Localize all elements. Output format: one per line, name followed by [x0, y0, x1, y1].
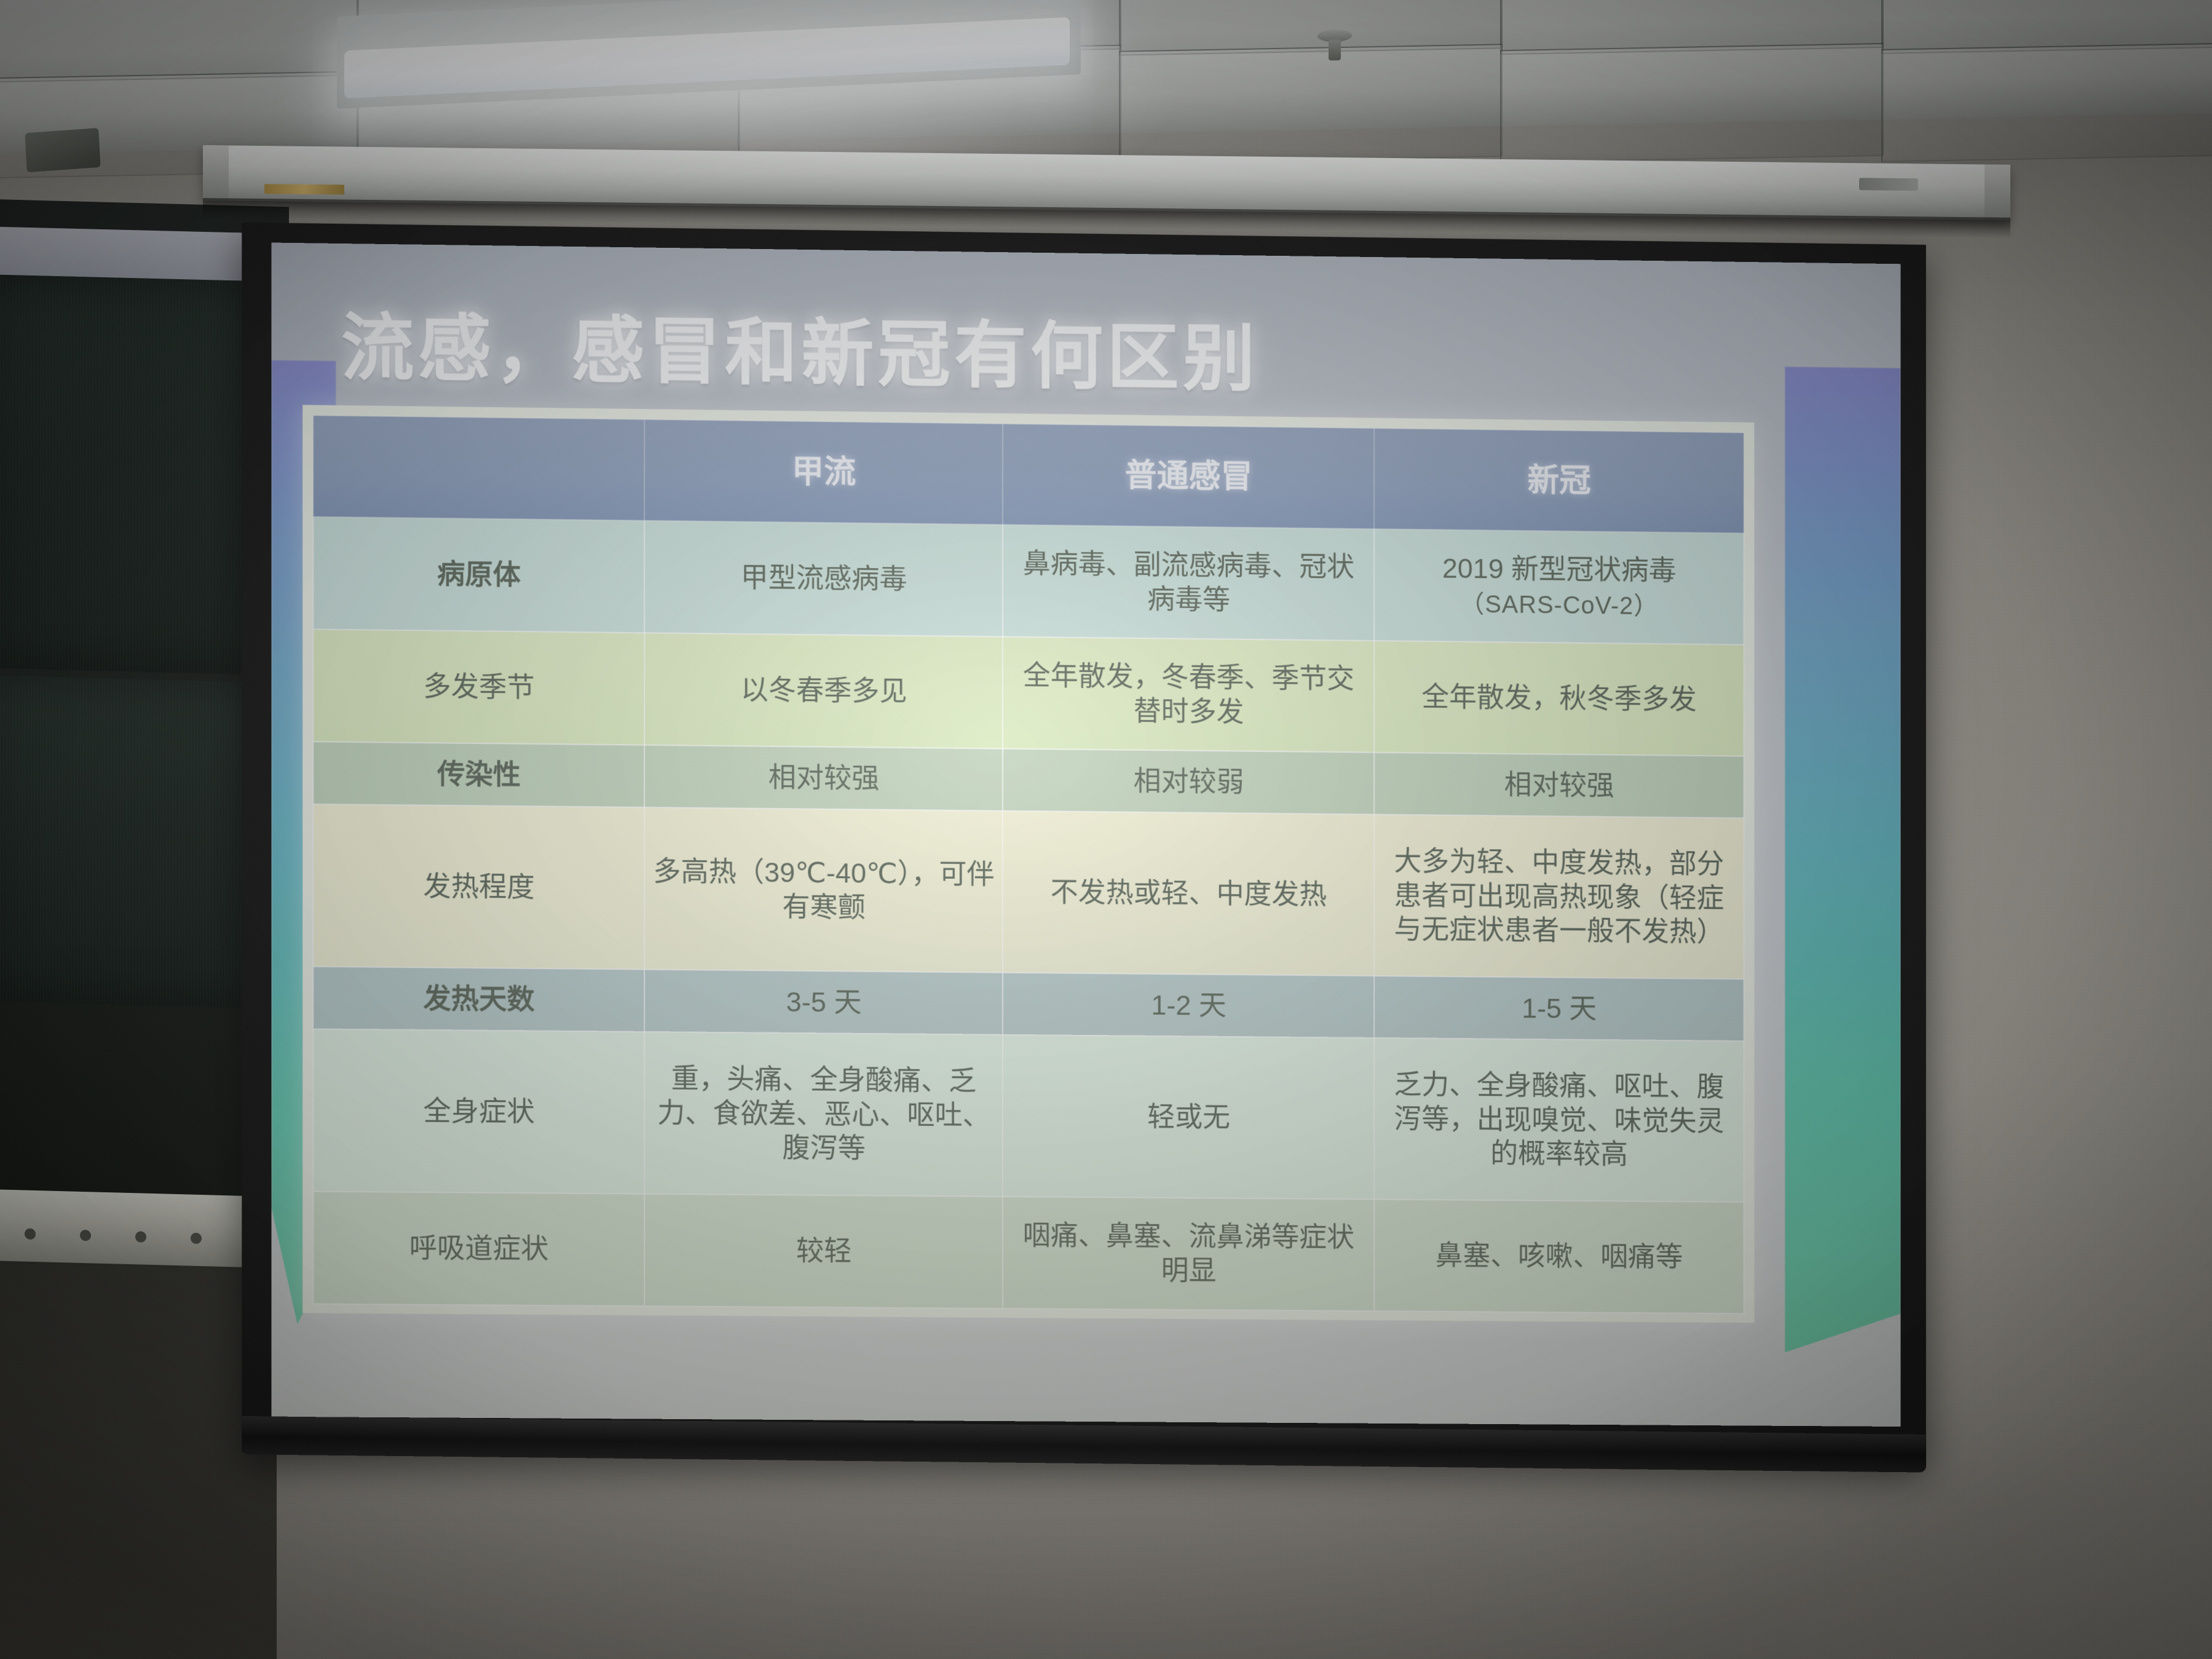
classroom-photo: 流感，感冒和新冠有何区别 甲流 普通感冒 新冠 病原体	[0, 0, 2212, 1659]
wall-vignette	[0, 0, 2212, 1659]
